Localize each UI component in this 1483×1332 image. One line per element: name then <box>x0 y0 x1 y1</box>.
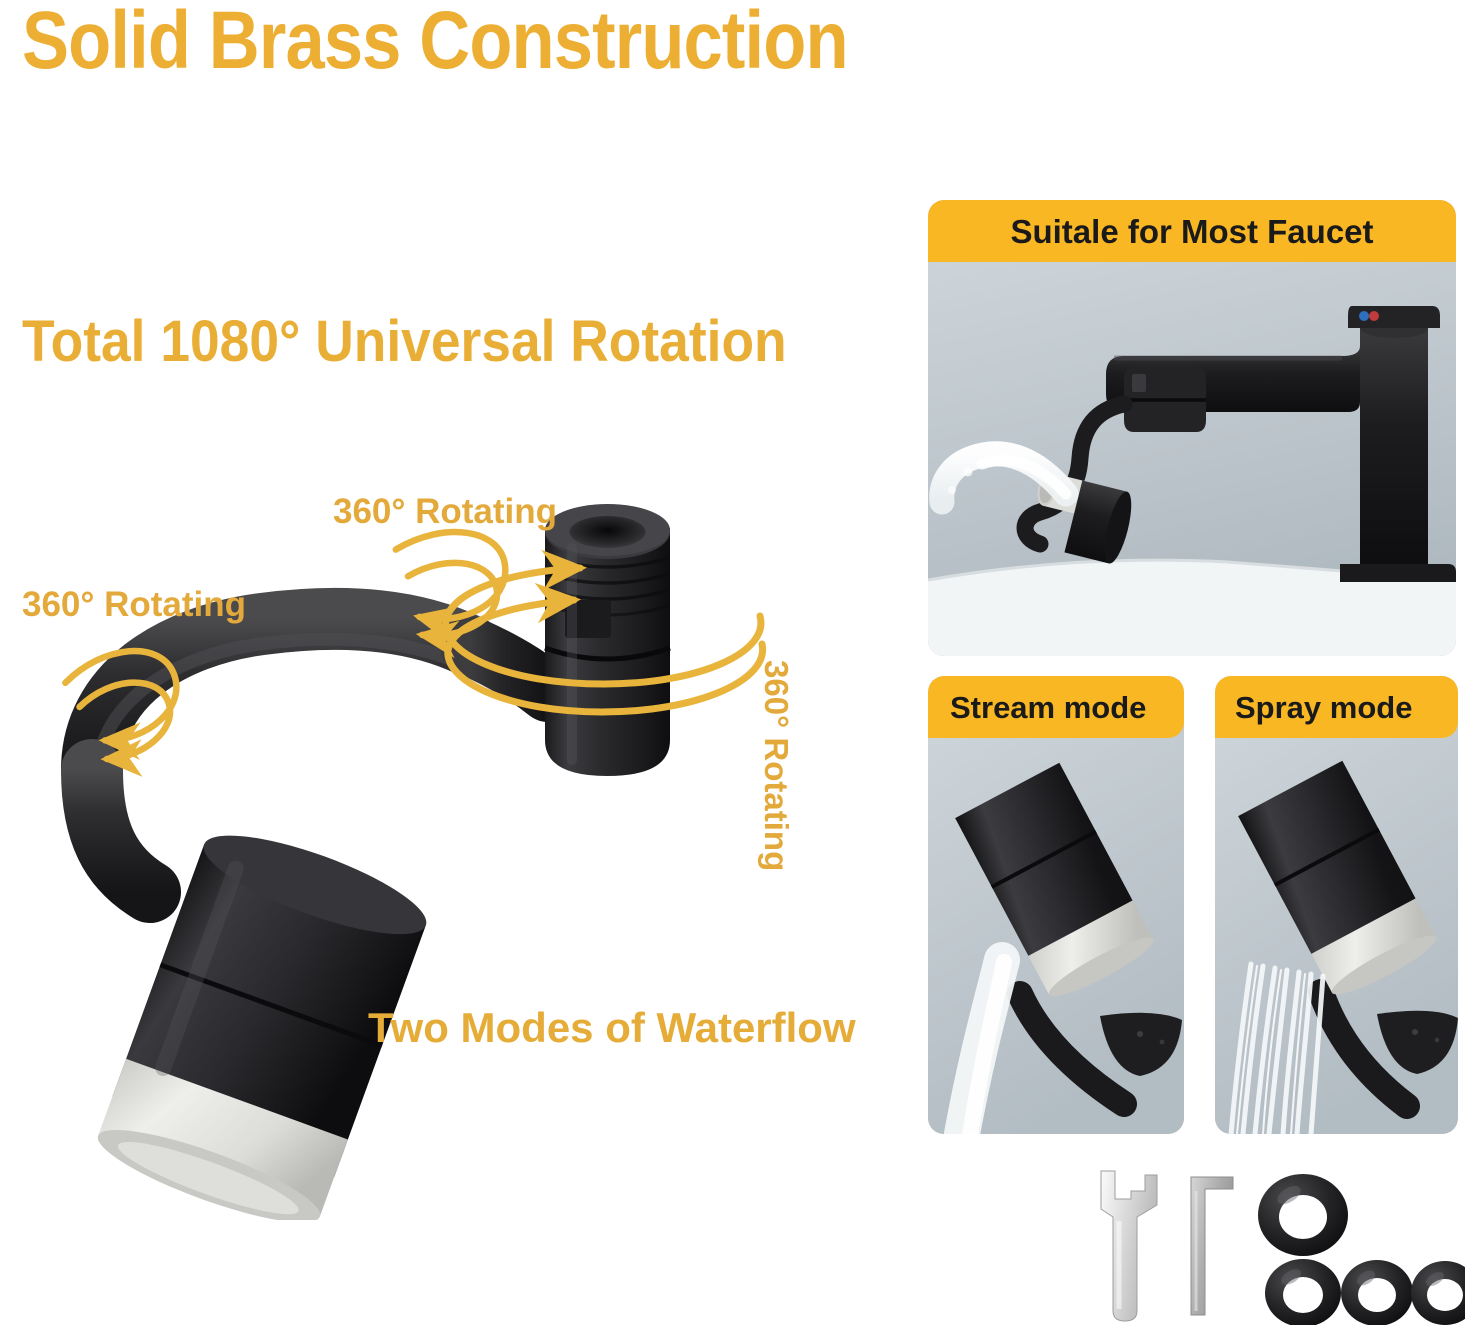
threaded-connector <box>545 504 670 776</box>
wrench-spanner-tool <box>1101 1171 1157 1321</box>
rubber-o-ring-small <box>1265 1259 1341 1325</box>
rubber-o-ring-small <box>1341 1260 1413 1325</box>
panel-banner-stream: Stream mode <box>928 676 1184 738</box>
rubber-o-ring-large <box>1258 1174 1348 1256</box>
rotation-label-right: 360° Rotating <box>757 660 795 871</box>
photo-faucet-with-extender-installed <box>928 262 1456 656</box>
page-subtitle: Total 1080° Universal Rotation <box>22 312 787 373</box>
panel-stream-mode: Stream mode <box>928 676 1184 1134</box>
waterflow-modes-label: Two Modes of Waterflow <box>368 1004 856 1052</box>
panel-banner-faucet: Suitale for Most Faucet <box>928 200 1456 262</box>
page-title: Solid Brass Construction <box>22 0 848 84</box>
hex-allen-key <box>1191 1177 1233 1315</box>
panel-banner-spray: Spray mode <box>1215 676 1458 738</box>
rotation-label-top: 360° Rotating <box>333 492 557 532</box>
panel-spray-mode: Spray mode <box>1215 676 1458 1134</box>
included-accessories <box>1085 1165 1465 1325</box>
photo-sprayer-spray-mode <box>1215 738 1458 1134</box>
rubber-o-ring-small <box>1411 1261 1465 1325</box>
photo-sprayer-stream-mode <box>928 738 1184 1134</box>
rotation-label-left: 360° Rotating <box>22 585 246 625</box>
arm-lower-elbow <box>92 770 150 892</box>
panel-suitable-for-most-faucet: Suitale for Most Faucet <box>928 200 1456 656</box>
